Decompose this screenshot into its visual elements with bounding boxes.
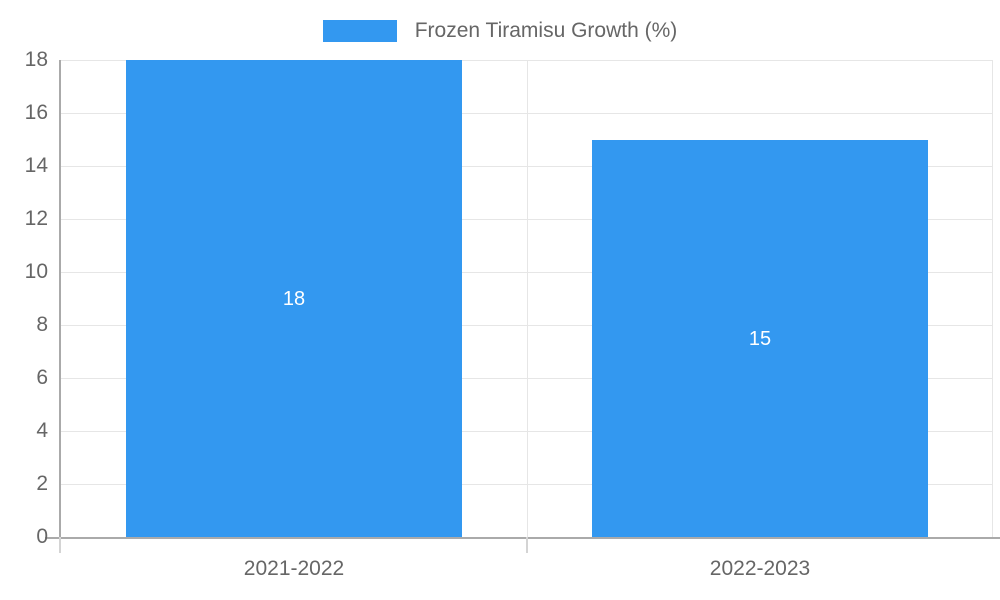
- y-axis-tick-labels: 0 2 4 6 8 10 12 14 16 18: [0, 0, 48, 600]
- bar-value-label-2022-2023: 15: [592, 329, 928, 349]
- legend-item-frozen-tiramisu-growth[interactable]: Frozen Tiramisu Growth (%): [323, 20, 678, 42]
- x-tick-label-2021-2022: 2021-2022: [126, 557, 462, 581]
- y-tick-label-16: 16: [4, 102, 48, 123]
- y-axis-line: [59, 60, 61, 552]
- chart-legend: Frozen Tiramisu Growth (%): [0, 14, 1000, 48]
- bar-chart: Frozen Tiramisu Growth (%) 18 15 0 2 4 6…: [0, 0, 1000, 600]
- bar-value-label-2021-2022: 18: [126, 289, 462, 309]
- y-tick-label-18: 18: [4, 49, 48, 70]
- x-axis-tick-start: [59, 537, 61, 553]
- y-tick-label-6: 6: [4, 367, 48, 388]
- category-divider-gridline: [527, 60, 528, 537]
- x-axis-tick-divider: [526, 537, 528, 553]
- y-tick-label-10: 10: [4, 261, 48, 282]
- x-tick-label-2022-2023: 2022-2023: [592, 557, 928, 581]
- y-tick-label-8: 8: [4, 314, 48, 335]
- y-tick-label-4: 4: [4, 420, 48, 441]
- y-tick-label-0: 0: [4, 526, 48, 547]
- y-tick-label-14: 14: [4, 155, 48, 176]
- legend-color-swatch-icon: [323, 20, 397, 42]
- x-axis-line: [45, 537, 1000, 539]
- y-tick-label-2: 2: [4, 473, 48, 494]
- plot-area: 18 15: [60, 60, 993, 537]
- y-tick-label-12: 12: [4, 208, 48, 229]
- legend-item-label: Frozen Tiramisu Growth (%): [415, 20, 678, 42]
